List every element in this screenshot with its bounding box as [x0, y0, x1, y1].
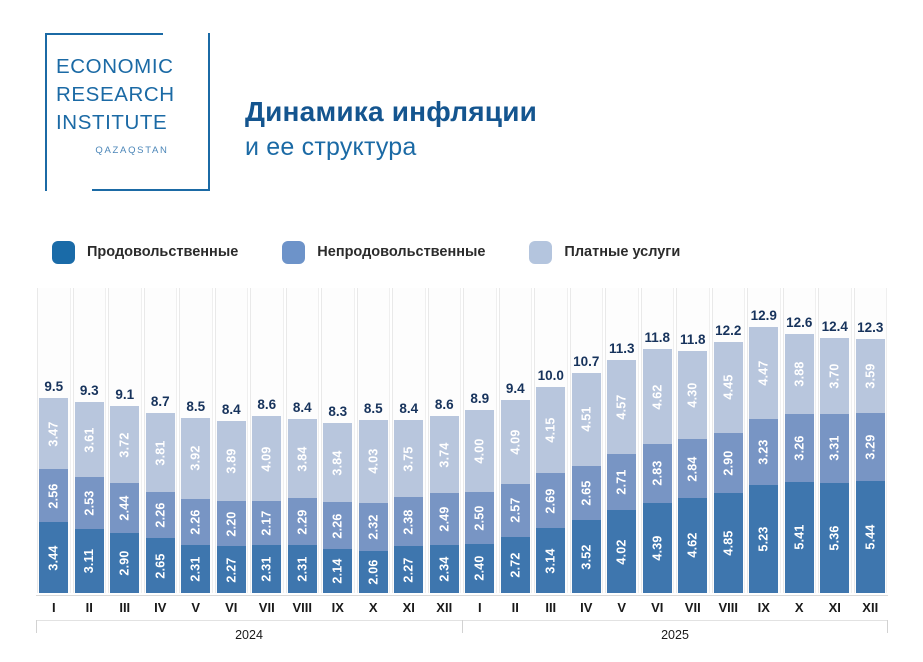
bar-segment-nonfood: 2.69: [536, 473, 565, 528]
x-tick-label: III: [108, 597, 142, 619]
bar-segment-nonfood: 2.44: [110, 483, 139, 533]
segment-value-label: 2.38: [402, 509, 416, 534]
logo-wordmark: ECONOMIC RESEARCH INSTITUTE: [56, 53, 208, 137]
bar-segment-services: 3.92: [181, 418, 210, 499]
segment-value-label: 4.03: [366, 449, 380, 474]
bar-segment-nonfood: 2.71: [607, 454, 636, 510]
legend-item-label: Платные услуги: [564, 244, 680, 260]
segment-value-label: 3.26: [792, 435, 806, 460]
bar-segment-services: 3.84: [288, 419, 317, 498]
year-group-label: 2024: [36, 620, 462, 650]
stacked-bar: 3.842.262.14: [323, 423, 352, 593]
x-axis-tick-labels: IIIIIIIVVVIVIIVIIIIXXXIXIIIIIIIIIVVVIVII…: [36, 597, 888, 619]
bar-column[interactable]: 8.94.002.502.40: [463, 288, 497, 593]
bar-segment-services: 4.00: [465, 410, 494, 492]
stacked-bar: 3.703.315.36: [820, 338, 849, 593]
bar-column[interactable]: 10.04.152.693.14: [534, 288, 568, 593]
stacked-bar: 4.092.572.72: [501, 400, 530, 593]
segment-value-label: 3.72: [118, 432, 132, 457]
legend-item-1[interactable]: Продовольственные: [52, 241, 238, 264]
bar-column[interactable]: 8.64.092.172.31: [250, 288, 284, 593]
stacked-bar: 3.722.442.90: [110, 406, 139, 593]
segment-value-label: 2.56: [47, 483, 61, 508]
stacked-bar: 3.842.292.31: [288, 419, 317, 593]
bar-total-label: 9.4: [499, 381, 533, 396]
bar-segment-food: 4.85: [714, 493, 743, 593]
bar-segment-food: 2.27: [394, 546, 423, 593]
page-title-primary: Динамика инфляции: [245, 95, 537, 129]
segment-value-label: 2.14: [331, 558, 345, 583]
bar-segment-food: 2.90: [110, 533, 139, 593]
segment-value-label: 5.23: [757, 527, 771, 552]
bar-column[interactable]: 8.54.032.322.06: [357, 288, 391, 593]
x-tick-label: II: [73, 597, 107, 619]
legend-item-label: Продовольственные: [87, 244, 238, 260]
segment-value-label: 2.49: [437, 507, 451, 532]
stacked-bar: 4.302.844.62: [678, 351, 707, 593]
bar-segment-food: 4.02: [607, 510, 636, 593]
segment-value-label: 2.26: [331, 513, 345, 538]
bar-segment-nonfood: 2.53: [75, 477, 104, 529]
bar-segment-nonfood: 2.65: [572, 466, 601, 521]
x-tick-label: VI: [641, 597, 675, 619]
bar-segment-services: 4.09: [501, 400, 530, 484]
bar-column[interactable]: 11.84.302.844.62: [676, 288, 710, 593]
x-tick-label: X: [357, 597, 391, 619]
bar-segment-services: 4.45: [714, 342, 743, 434]
x-tick-label: IX: [321, 597, 355, 619]
stacked-bar: 3.883.265.41: [785, 334, 814, 593]
bar-column[interactable]: 12.33.593.295.44: [854, 288, 888, 593]
segment-value-label: 2.57: [508, 498, 522, 523]
bar-segment-nonfood: 2.83: [643, 444, 672, 502]
segment-value-label: 2.31: [295, 557, 309, 582]
bar-total-label: 8.4: [392, 401, 426, 416]
bar-total-label: 9.3: [73, 383, 107, 398]
bar-column[interactable]: 9.13.722.442.90: [108, 288, 142, 593]
bar-segment-nonfood: 2.20: [217, 501, 246, 546]
bar-column[interactable]: 8.63.742.492.34: [428, 288, 462, 593]
bar-column[interactable]: 8.73.812.262.65: [144, 288, 178, 593]
bar-segment-services: 3.72: [110, 406, 139, 483]
segment-value-label: 2.83: [650, 461, 664, 486]
segment-value-label: 2.20: [224, 511, 238, 536]
year-group-label: 2025: [462, 620, 888, 650]
x-tick-label: I: [37, 597, 71, 619]
bar-segment-nonfood: 2.32: [359, 503, 388, 551]
bar-total-label: 9.5: [37, 379, 71, 394]
stacked-bar: 4.152.693.14: [536, 387, 565, 593]
stacked-bar: 3.812.262.65: [146, 413, 175, 593]
stacked-bar: 4.092.172.31: [252, 416, 281, 593]
stacked-bar: 3.922.262.31: [181, 418, 210, 593]
segment-value-label: 5.41: [792, 525, 806, 550]
bar-column[interactable]: 11.34.572.714.02: [605, 288, 639, 593]
bar-segment-nonfood: 2.17: [252, 501, 281, 546]
segment-value-label: 3.14: [544, 548, 558, 573]
segment-value-label: 2.44: [118, 496, 132, 521]
segment-value-label: 3.59: [863, 364, 877, 389]
segment-value-label: 4.51: [579, 407, 593, 432]
bar-segment-food: 2.65: [146, 538, 175, 593]
bar-segment-food: 4.62: [678, 498, 707, 593]
bar-column[interactable]: 12.63.883.265.41: [783, 288, 817, 593]
bar-segment-food: 5.41: [785, 482, 814, 593]
segment-value-label: 3.23: [757, 439, 771, 464]
legend-item-3[interactable]: Платные услуги: [529, 241, 680, 264]
logo-subtitle: QAZAQSTAN: [57, 145, 207, 156]
legend-swatch-icon: [529, 241, 552, 264]
segment-value-label: 3.70: [828, 364, 842, 389]
x-tick-label: VII: [676, 597, 710, 619]
bar-column[interactable]: 9.33.612.533.11: [73, 288, 107, 593]
bar-segment-services: 3.61: [75, 402, 104, 476]
bar-segment-food: 2.31: [252, 545, 281, 593]
segment-value-label: 4.09: [260, 446, 274, 471]
bar-total-label: 8.4: [215, 402, 249, 417]
segment-value-label: 4.45: [721, 375, 735, 400]
x-tick-label: IV: [144, 597, 178, 619]
segment-value-label: 4.00: [473, 438, 487, 463]
segment-value-label: 2.27: [224, 557, 238, 582]
segment-value-label: 4.47: [757, 360, 771, 385]
segment-value-label: 4.39: [650, 535, 664, 560]
stacked-bar: 4.473.235.23: [749, 327, 778, 593]
bar-segment-food: 2.27: [217, 546, 246, 593]
bar-segment-food: 2.31: [288, 545, 317, 593]
segment-value-label: 5.44: [863, 524, 877, 549]
bar-segment-food: 4.39: [643, 503, 672, 593]
segment-value-label: 2.17: [260, 510, 274, 535]
x-tick-label: XI: [392, 597, 426, 619]
legend-swatch-icon: [282, 241, 305, 264]
x-tick-label: VIII: [712, 597, 746, 619]
bar-total-label: 8.6: [428, 397, 462, 412]
bar-segment-food: 2.31: [181, 545, 210, 593]
bar-segment-food: 2.14: [323, 549, 352, 593]
bar-column[interactable]: 8.43.892.202.27: [215, 288, 249, 593]
bar-column[interactable]: 9.53.472.563.44: [37, 288, 71, 593]
legend-item-2[interactable]: Непродовольственные: [282, 241, 485, 264]
bar-total-label: 8.7: [144, 394, 178, 409]
stacked-bar-chart: 9.53.472.563.449.33.612.533.119.13.722.4…: [36, 288, 888, 596]
bar-total-label: 9.1: [108, 387, 142, 402]
stacked-bar: 3.593.295.44: [856, 339, 885, 593]
bar-segment-food: 3.44: [39, 522, 68, 593]
bar-segment-services: 3.59: [856, 339, 885, 413]
bar-total-label: 12.2: [712, 323, 746, 338]
bar-segment-services: 3.84: [323, 423, 352, 502]
segment-value-label: 5.36: [828, 525, 842, 550]
segment-value-label: 2.53: [82, 490, 96, 515]
logo-line-2: RESEARCH: [56, 81, 208, 109]
bar-total-label: 10.0: [534, 368, 568, 383]
bar-column[interactable]: 12.24.452.904.85: [712, 288, 746, 593]
x-tick-label: VI: [215, 597, 249, 619]
logo-line-1: ECONOMIC: [56, 53, 208, 81]
bar-column[interactable]: 12.43.703.315.36: [818, 288, 852, 593]
segment-value-label: 3.74: [437, 442, 451, 467]
segment-value-label: 3.11: [82, 549, 96, 573]
bar-total-label: 11.8: [676, 332, 710, 347]
bar-segment-nonfood: 2.26: [323, 502, 352, 549]
page-title-secondary: и ее структура: [245, 131, 537, 163]
segment-value-label: 4.62: [686, 533, 700, 558]
segment-value-label: 3.84: [295, 446, 309, 471]
stacked-bar: 4.032.322.06: [359, 420, 388, 593]
bar-segment-nonfood: 2.56: [39, 469, 68, 522]
bar-column[interactable]: 8.33.842.262.14: [321, 288, 355, 593]
segment-value-label: 3.47: [47, 421, 61, 446]
bar-segment-food: 5.44: [856, 481, 885, 593]
segment-value-label: 2.34: [437, 556, 451, 581]
bar-column[interactable]: 12.94.473.235.23: [747, 288, 781, 593]
bar-total-label: 8.3: [321, 404, 355, 419]
x-axis-group-labels: 20242025: [36, 620, 888, 650]
x-tick-label: XII: [854, 597, 888, 619]
x-tick-label: VII: [250, 597, 284, 619]
bar-segment-nonfood: 2.26: [181, 499, 210, 546]
bar-segment-services: 4.57: [607, 360, 636, 454]
bar-segment-nonfood: 3.23: [749, 419, 778, 486]
segment-value-label: 4.02: [615, 539, 629, 564]
bar-total-label: 8.5: [357, 401, 391, 416]
bar-total-label: 12.9: [747, 308, 781, 323]
segment-value-label: 2.90: [721, 451, 735, 476]
x-tick-label: V: [179, 597, 213, 619]
segment-value-label: 3.89: [224, 448, 238, 473]
stacked-bar: 4.622.834.39: [643, 349, 672, 593]
segment-value-label: 2.26: [153, 503, 167, 528]
bar-segment-food: 2.34: [430, 545, 459, 593]
page-title: Динамика инфляции и ее структура: [245, 95, 537, 163]
bar-total-label: 8.4: [286, 400, 320, 415]
bar-column[interactable]: 8.43.752.382.27: [392, 288, 426, 593]
bar-segment-nonfood: 2.26: [146, 492, 175, 539]
stacked-bar: 4.572.714.02: [607, 360, 636, 593]
bar-segment-food: 5.23: [749, 485, 778, 593]
segment-value-label: 4.30: [686, 382, 700, 407]
bar-segment-nonfood: 3.29: [856, 413, 885, 481]
segment-value-label: 2.84: [686, 456, 700, 481]
segment-value-label: 2.69: [544, 488, 558, 513]
bar-total-label: 8.5: [179, 399, 213, 414]
bar-segment-nonfood: 2.57: [501, 484, 530, 537]
segment-value-label: 2.31: [260, 557, 274, 582]
bar-segment-services: 3.89: [217, 421, 246, 501]
stacked-bar: 3.742.492.34: [430, 416, 459, 593]
segment-value-label: 2.06: [366, 559, 380, 584]
x-tick-label: II: [499, 597, 533, 619]
segment-value-label: 3.75: [402, 446, 416, 471]
bar-segment-nonfood: 2.29: [288, 498, 317, 545]
bar-total-label: 8.6: [250, 397, 284, 412]
segment-value-label: 2.90: [118, 551, 132, 576]
bar-column[interactable]: 11.84.622.834.39: [641, 288, 675, 593]
x-axis-line: [36, 595, 888, 596]
bar-segment-nonfood: 2.50: [465, 492, 494, 544]
stacked-bar: 3.752.382.27: [394, 420, 423, 593]
stacked-bar: 3.892.202.27: [217, 421, 246, 593]
x-tick-label: I: [463, 597, 497, 619]
bar-segment-nonfood: 2.49: [430, 493, 459, 544]
bar-segment-food: 5.36: [820, 483, 849, 593]
legend-item-label: Непродовольственные: [317, 244, 485, 260]
bar-column[interactable]: 9.44.092.572.72: [499, 288, 533, 593]
segment-value-label: 3.84: [331, 450, 345, 475]
bar-segment-services: 3.81: [146, 413, 175, 492]
segment-value-label: 3.81: [153, 440, 167, 465]
bar-total-label: 11.3: [605, 341, 639, 356]
segment-value-label: 3.88: [792, 362, 806, 387]
segment-value-label: 4.15: [544, 418, 558, 443]
bar-segment-nonfood: 2.84: [678, 439, 707, 498]
segment-value-label: 2.65: [579, 481, 593, 506]
bar-segment-services: 4.09: [252, 416, 281, 500]
segment-value-label: 3.52: [579, 544, 593, 569]
bar-segment-services: 3.47: [39, 398, 68, 470]
bar-segment-food: 2.06: [359, 551, 388, 593]
bar-segment-food: 3.52: [572, 520, 601, 593]
x-tick-label: VIII: [286, 597, 320, 619]
bar-segment-food: 2.72: [501, 537, 530, 593]
stacked-bar: 3.472.563.44: [39, 398, 68, 593]
segment-value-label: 3.61: [82, 427, 96, 452]
x-tick-label: III: [534, 597, 568, 619]
segment-value-label: 2.65: [153, 553, 167, 578]
x-tick-label: IV: [570, 597, 604, 619]
stacked-bar: 4.512.653.52: [572, 373, 601, 593]
bar-segment-services: 4.03: [359, 420, 388, 503]
segment-value-label: 4.57: [615, 395, 629, 420]
slide-canvas: ECONOMIC RESEARCH INSTITUTE QAZAQSTAN Ди…: [0, 0, 923, 662]
segment-value-label: 4.85: [721, 530, 735, 555]
segment-value-label: 2.31: [189, 557, 203, 582]
bar-total-label: 8.9: [463, 391, 497, 406]
bar-segment-services: 4.51: [572, 373, 601, 466]
chart-legend: ПродовольственныеНепродовольственныеПлат…: [52, 239, 724, 265]
bar-total-label: 10.7: [570, 354, 604, 369]
bar-total-label: 12.4: [818, 319, 852, 334]
bar-segment-nonfood: 2.38: [394, 497, 423, 546]
bar-segment-services: 3.88: [785, 334, 814, 414]
segment-value-label: 3.29: [863, 434, 877, 459]
slide-header: ECONOMIC RESEARCH INSTITUTE QAZAQSTAN Ди…: [0, 0, 923, 215]
stacked-bar: 4.002.502.40: [465, 410, 494, 593]
x-tick-label: IX: [747, 597, 781, 619]
x-tick-label: V: [605, 597, 639, 619]
segment-value-label: 4.09: [508, 429, 522, 454]
bar-segment-services: 3.75: [394, 420, 423, 497]
segment-value-label: 2.40: [473, 556, 487, 581]
segment-value-label: 2.27: [402, 557, 416, 582]
segment-value-label: 2.72: [508, 552, 522, 577]
bar-segment-nonfood: 3.31: [820, 414, 849, 482]
bar-total-label: 11.8: [641, 330, 675, 345]
segment-value-label: 2.71: [615, 470, 629, 495]
bar-column[interactable]: 10.74.512.653.52: [570, 288, 604, 593]
bar-segment-food: 2.40: [465, 544, 494, 593]
bar-segment-food: 3.14: [536, 528, 565, 593]
bar-total-label: 12.3: [854, 320, 888, 335]
segment-value-label: 3.92: [189, 446, 203, 471]
bar-column[interactable]: 8.43.842.292.31: [286, 288, 320, 593]
bar-segment-services: 3.74: [430, 416, 459, 493]
bar-segment-services: 4.47: [749, 327, 778, 419]
chart-bars: 9.53.472.563.449.33.612.533.119.13.722.4…: [36, 288, 888, 593]
x-tick-label: X: [783, 597, 817, 619]
bar-segment-nonfood: 3.26: [785, 414, 814, 481]
x-tick-label: XI: [818, 597, 852, 619]
legend-swatch-icon: [52, 241, 75, 264]
bar-total-label: 12.6: [783, 315, 817, 330]
segment-value-label: 3.44: [47, 545, 61, 570]
bar-segment-services: 4.30: [678, 351, 707, 440]
x-tick-label: XII: [428, 597, 462, 619]
segment-value-label: 3.31: [828, 436, 842, 461]
bar-segment-services: 3.70: [820, 338, 849, 414]
segment-value-label: 2.32: [366, 514, 380, 539]
bar-segment-services: 4.15: [536, 387, 565, 473]
organization-logo: ECONOMIC RESEARCH INSTITUTE QAZAQSTAN: [45, 33, 210, 191]
bar-segment-services: 4.62: [643, 349, 672, 444]
segment-value-label: 2.29: [295, 509, 309, 534]
bar-segment-nonfood: 2.90: [714, 433, 743, 493]
segment-value-label: 4.62: [650, 384, 664, 409]
stacked-bar: 3.612.533.11: [75, 402, 104, 593]
bar-segment-food: 3.11: [75, 529, 104, 593]
logo-line-3: INSTITUTE: [56, 109, 208, 137]
bar-column[interactable]: 8.53.922.262.31: [179, 288, 213, 593]
segment-value-label: 2.50: [473, 505, 487, 530]
stacked-bar: 4.452.904.85: [714, 342, 743, 593]
segment-value-label: 2.26: [189, 510, 203, 535]
